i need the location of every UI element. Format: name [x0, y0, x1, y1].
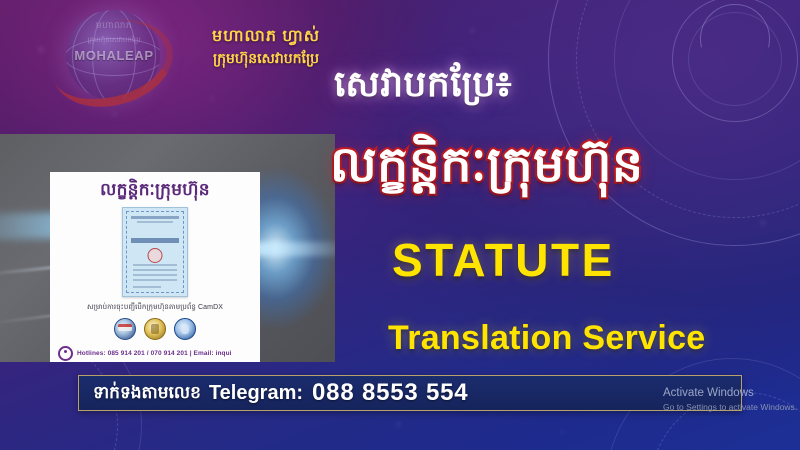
bokeh-dot [560, 430, 564, 434]
radar-ring-core [688, 12, 782, 106]
hotline-text: Hotlines: 085 914 201 / 070 914 201 | Em… [77, 350, 232, 357]
logo-sub-text: ក្រុមហ៊ុនសេវាបកប្រែ [87, 36, 140, 46]
certificate-card-title: លក្ខន្តិកៈក្រុមហ៊ុន [50, 178, 260, 202]
certificate-text-line [133, 279, 177, 281]
certificate-text-line [133, 269, 177, 271]
hotline-row: Hotlines: 085 914 201 / 070 914 201 | Em… [50, 346, 260, 361]
certificate-header-line [131, 216, 179, 219]
bokeh-dot [38, 46, 45, 53]
certificate-text-line [133, 274, 177, 276]
preview-video-panel[interactable]: លក្ខន្តិកៈក្រុមហ៊ុន សម្រាប់ការចុះបញ្ជីបើ… [0, 134, 335, 362]
brand-name-line1: មហាលាភ ហ្វាស់ [176, 26, 356, 48]
company-logo: មហាលាភ ក្រុមហ៊ុនសេវាបកប្រែ MOHALEAP [58, 6, 170, 102]
certificate-seal [148, 248, 163, 263]
ministry-emblem-icon [114, 318, 136, 340]
certificate-document-thumbnail [122, 207, 188, 297]
royal-government-emblem-icon [144, 318, 166, 340]
bokeh-dot [210, 96, 214, 100]
contact-app-label: Telegram: [209, 382, 303, 405]
bokeh-dot [470, 28, 475, 33]
headline-service-label: សេវាបកប្រែ៖ [334, 62, 512, 106]
bokeh-dot [112, 112, 117, 117]
logo-crown-text: មហាលាភ [96, 20, 132, 33]
partner-emblems [50, 318, 260, 340]
camdx-emblem-icon [174, 318, 196, 340]
radar-ring-outer [548, 0, 800, 246]
headline-statute-khmer: លក្ខន្តិកៈក្រុមហ៊ុន [330, 134, 643, 196]
certificate-card-subtitle: សម្រាប់ការចុះបញ្ជីបើកក្រុមហ៊ុនតាមប្រព័ន្… [50, 303, 260, 313]
bokeh-dot [760, 220, 766, 226]
contact-bar[interactable]: ទាក់ទងតាមលេខ Telegram: 088 8553 554 [78, 375, 742, 411]
radar-ring-inner [672, 0, 798, 122]
contact-phone-number: 088 8553 554 [312, 379, 468, 407]
contact-kh-label: ទាក់ទងតាមលេខ [79, 381, 201, 405]
brand-name-line2: ក្រុមហ៊ុនសេវាបកប្រែ [176, 48, 356, 68]
target-icon [58, 346, 73, 361]
headline-translation-service: Translation Service [388, 316, 706, 360]
poster-canvas: មហាលាភ ក្រុមហ៊ុនសេវាបកប្រែ MOHALEAP មហាល… [0, 0, 800, 450]
certificate-text-line [133, 286, 161, 288]
certificate-preview-card: លក្ខន្តិកៈក្រុមហ៊ុន សម្រាប់ការចុះបញ្ជីបើ… [50, 172, 260, 362]
brand-name-block: មហាលាភ ហ្វាស់ ក្រុមហ៊ុនសេវាបកប្រែ [176, 26, 356, 68]
bokeh-dot [396, 422, 401, 427]
headline-statute-english: STATUTE [392, 232, 615, 288]
certificate-text-line [133, 264, 177, 266]
logo-wordmark: MOHALEAP [74, 48, 153, 63]
certificate-title-line [131, 238, 179, 243]
certificate-header-line [137, 221, 173, 223]
radar-arc-top [700, 4, 770, 74]
